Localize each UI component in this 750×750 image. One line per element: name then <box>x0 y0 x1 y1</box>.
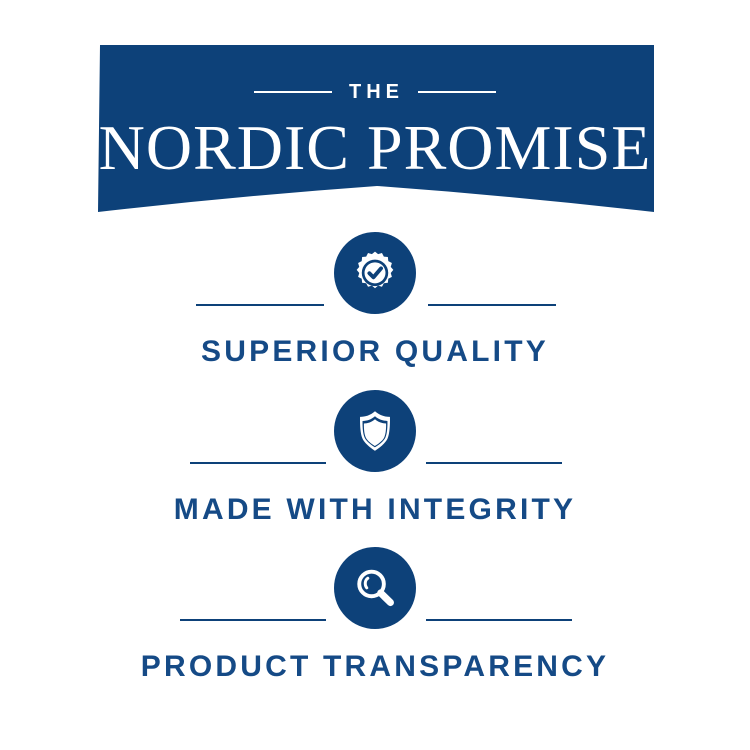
icon-divider-band <box>0 232 750 314</box>
divider-left <box>196 304 324 306</box>
divider-right <box>428 304 556 306</box>
banner: THE NORDIC PROMISE <box>0 0 750 232</box>
promise-icon-badge <box>334 390 416 472</box>
promise-icon-badge <box>334 547 416 629</box>
divider-left <box>190 462 326 464</box>
promise-label: SUPERIOR QUALITY <box>0 337 750 367</box>
divider-right <box>426 462 562 464</box>
promise-item: SUPERIOR QUALITY <box>0 232 750 367</box>
promise-label: PRODUCT TRANSPARENCY <box>0 652 750 682</box>
quality-seal-check-icon <box>352 250 398 296</box>
divider-left <box>180 619 326 621</box>
icon-divider-band <box>0 547 750 629</box>
shield-icon <box>352 408 398 454</box>
promise-label: MADE WITH INTEGRITY <box>0 495 750 525</box>
magnifying-glass-icon <box>351 564 399 612</box>
promise-item: MADE WITH INTEGRITY <box>0 390 750 525</box>
banner-shape <box>0 0 750 232</box>
nordic-promise-graphic: THE NORDIC PROMISE SUP <box>0 0 750 750</box>
promise-item: PRODUCT TRANSPARENCY <box>0 547 750 682</box>
divider-right <box>426 619 572 621</box>
icon-divider-band <box>0 390 750 472</box>
promise-list: SUPERIOR QUALITY MADE WITH INTEGRITY <box>0 232 750 682</box>
promise-icon-badge <box>334 232 416 314</box>
